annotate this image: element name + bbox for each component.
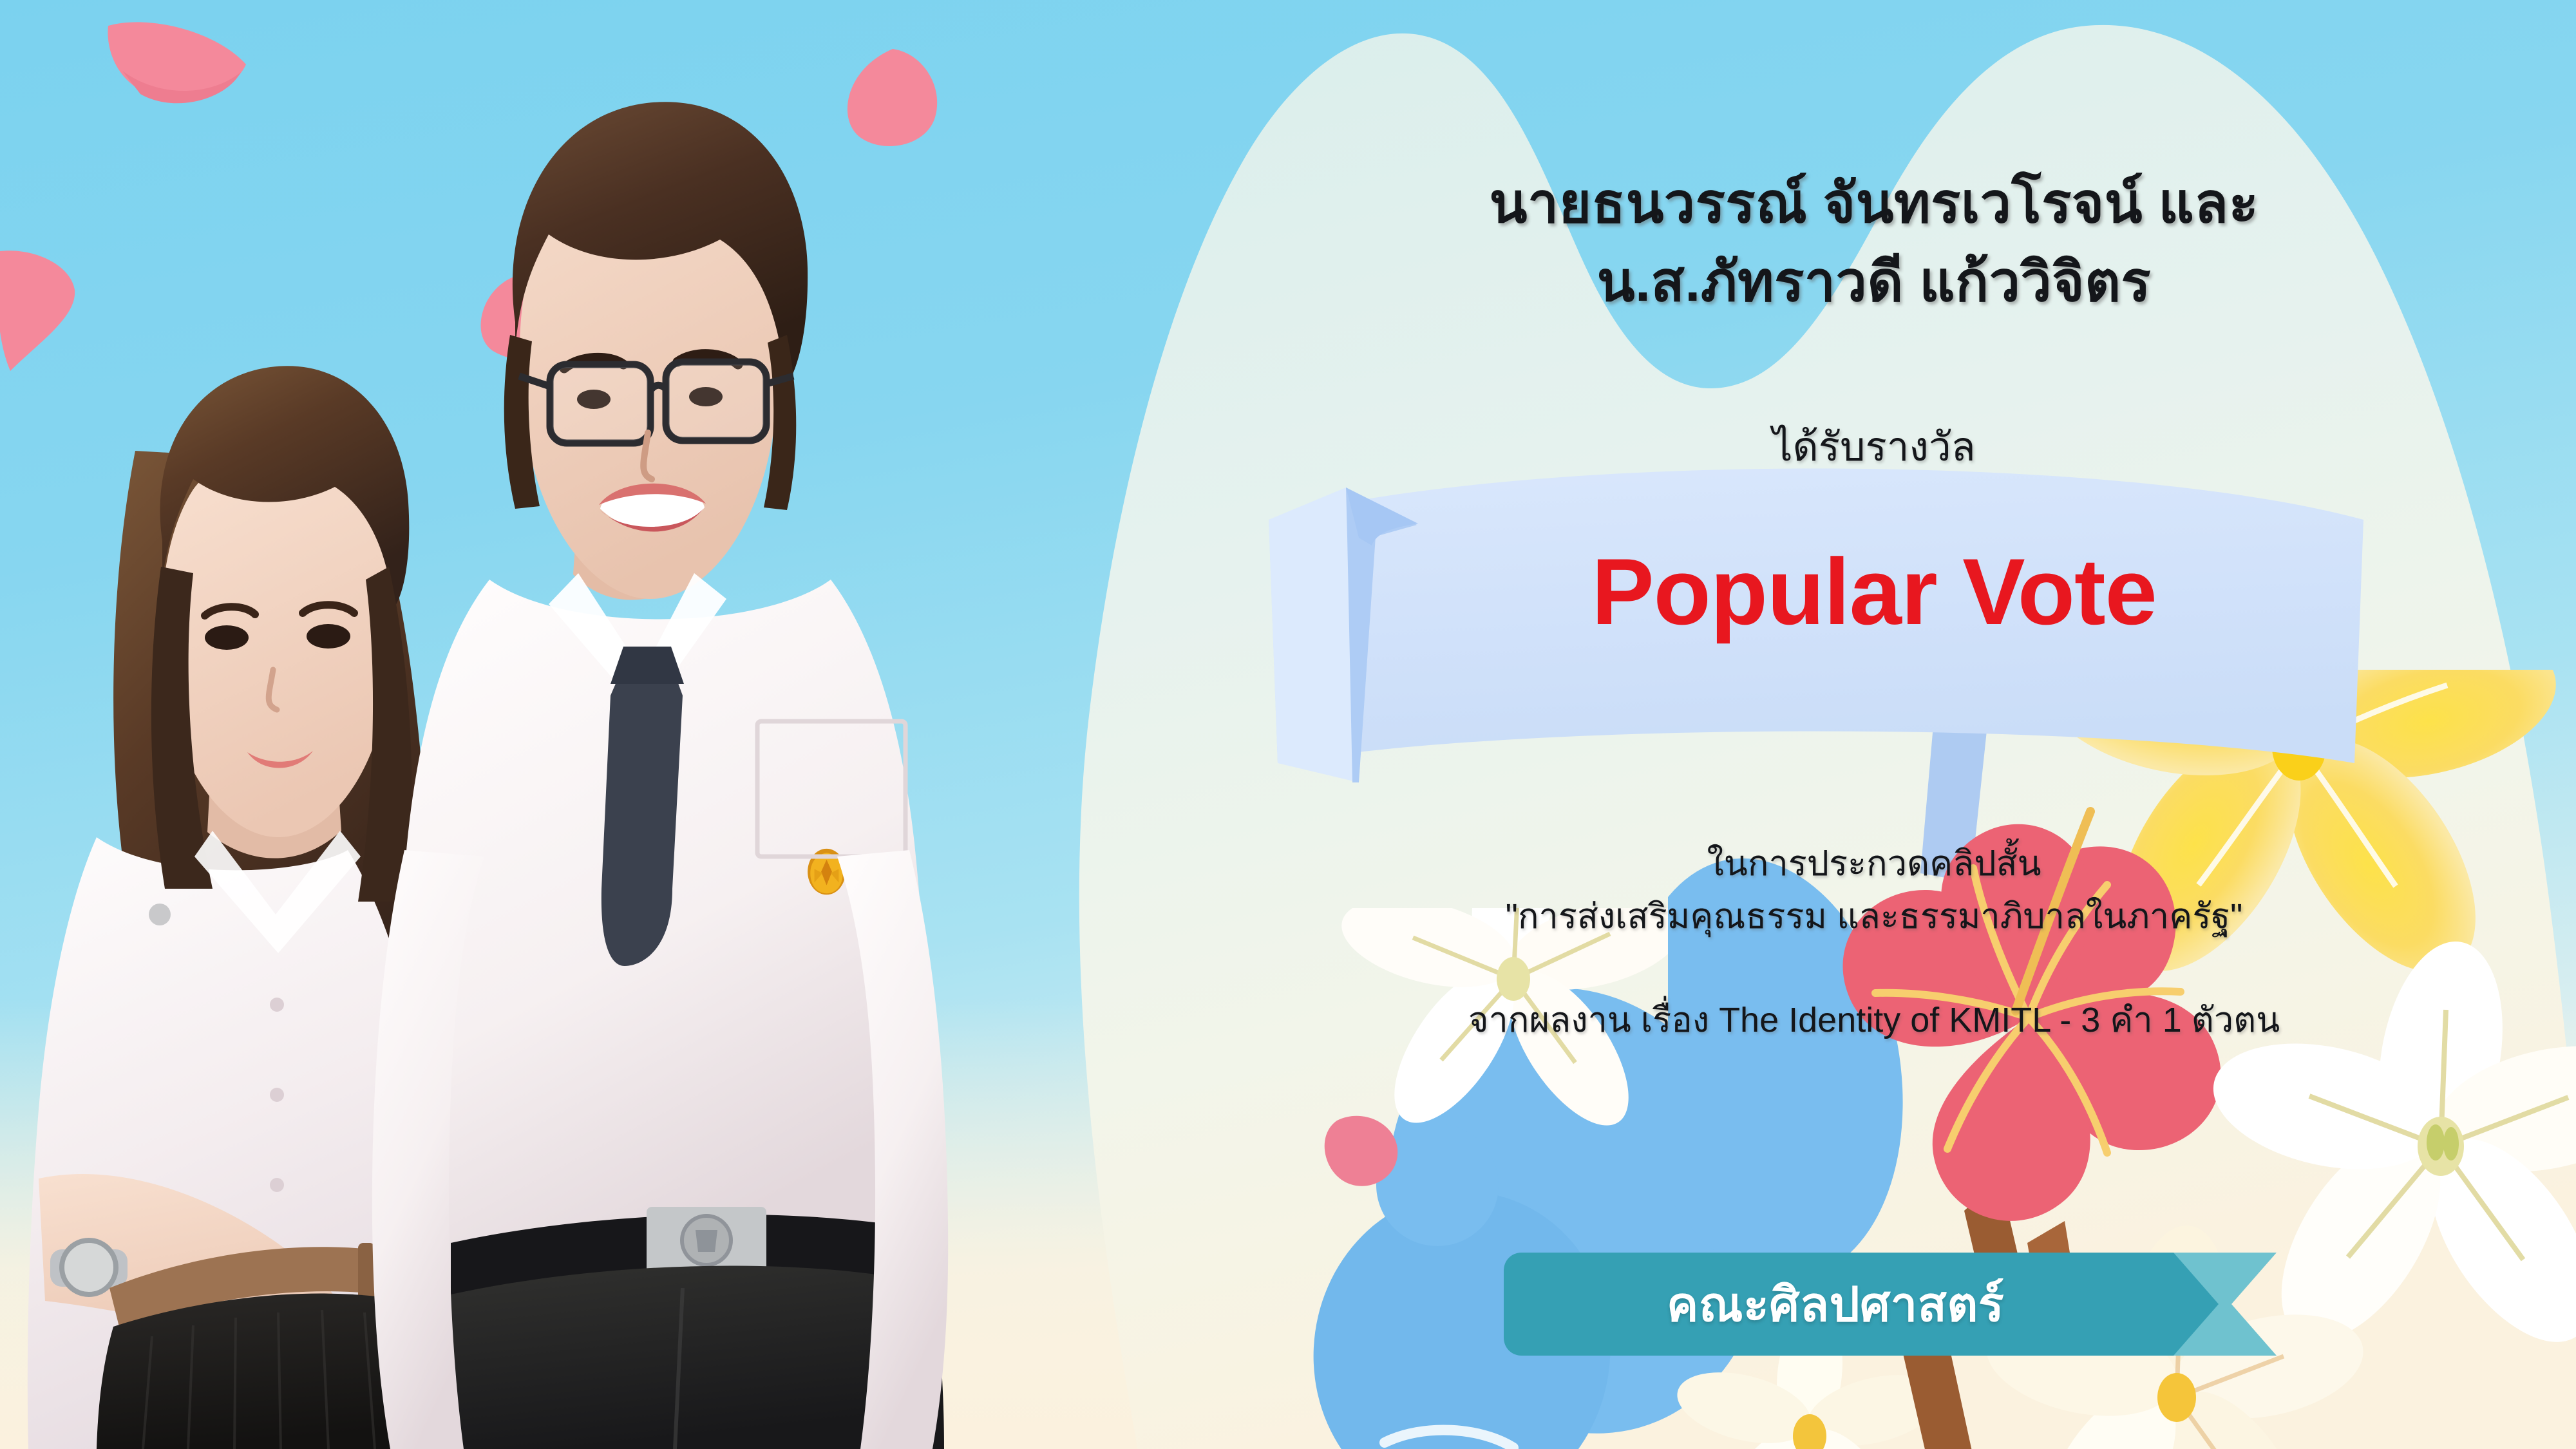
awardee-name-line-2: น.ส.ภัทราวดี แก้ววิจิตร [1262, 243, 2486, 321]
work-title-line: จากผลงาน เรื่อง The Identity of KMITL - … [1262, 992, 2486, 1047]
contest-description: ในการประกวดคลิปสั้น "การส่งเสริมคุณธรรม … [1262, 837, 2486, 943]
awardee-name-line-1: นายธนวรรณ์ จันทรเวโรจน์ และ [1262, 164, 2486, 243]
award-title: Popular Vote [1262, 538, 2486, 646]
text-column: นายธนวรรณ์ จันทรเวโรจน์ และ น.ส.ภัทราวดี… [1262, 0, 2486, 1449]
faculty-ribbon[interactable]: คณะศิลปศาสตร์ [1504, 1253, 2277, 1356]
faculty-name-label: คณะศิลปศาสตร์ [1504, 1253, 2167, 1356]
students-photo [0, 0, 1108, 1449]
contest-line-2: "การส่งเสริมคุณธรรม และธรรมาภิบาลในภาครั… [1262, 890, 2486, 943]
awardee-names: นายธนวรรณ์ จันทรเวโรจน์ และ น.ส.ภัทราวดี… [1262, 164, 2486, 321]
contest-line-1: ในการประกวดคลิปสั้น [1262, 837, 2486, 890]
award-banner-canvas: นายธนวรรณ์ จันทรเวโรจน์ และ น.ส.ภัทราวดี… [0, 0, 2576, 1449]
